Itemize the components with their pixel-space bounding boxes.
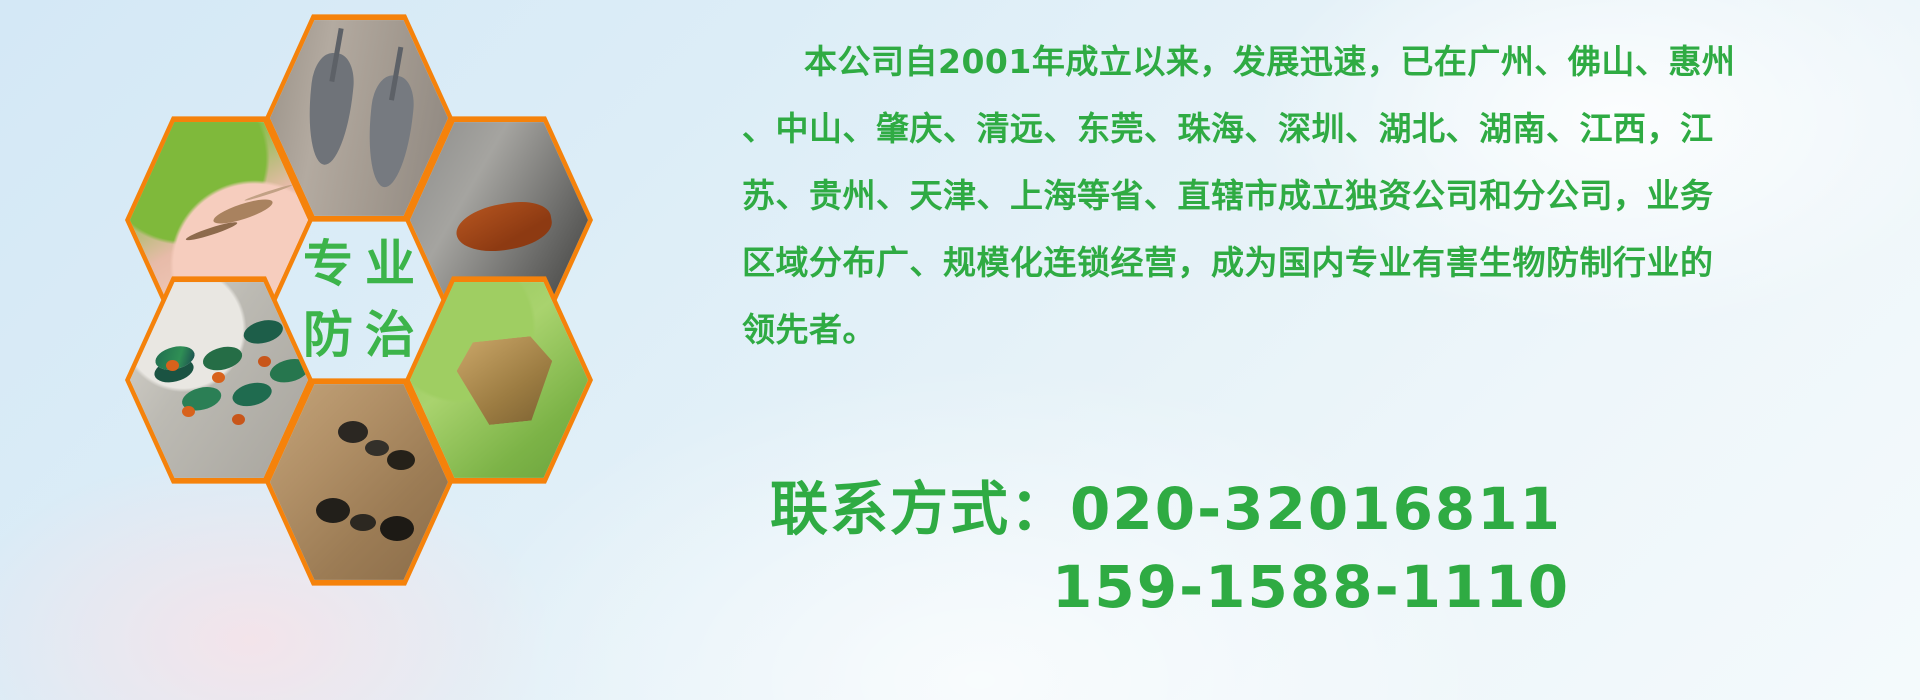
contact-phone-landline[interactable]: 联系方式：020-32016811	[770, 470, 1570, 548]
contact-block: 联系方式：020-32016811 159-1588-1110	[770, 470, 1570, 626]
description-line: 本公司自2001年成立以来，发展迅速，已在广州、佛山、惠州	[742, 34, 1882, 90]
description-line: 区域分布广、规模化连锁经营，成为国内专业有害生物防制行业的	[742, 235, 1882, 291]
description-line: 、中山、肇庆、清远、东莞、珠海、深圳、湖北、湖南、江西，江	[742, 101, 1882, 157]
honeycomb-gallery: 专业 防治	[85, 0, 705, 692]
promo-banner: 专业 防治 本公司自2001年成立以来，发展迅速，已在广州、佛山、惠州 、中山、…	[0, 0, 1920, 700]
contact-phone-mobile[interactable]: 159-1588-1110	[770, 548, 1570, 626]
hex-cell-slogan: 专业 防治	[259, 188, 459, 412]
slogan-line-2: 防治	[291, 300, 427, 371]
description-line: 苏、贵州、天津、上海等省、直辖市成立独资公司和分公司，业务	[742, 168, 1882, 224]
description-line: 领先者。	[742, 302, 1882, 358]
slogan-line-1: 专业	[291, 229, 427, 300]
company-description: 本公司自2001年成立以来，发展迅速，已在广州、佛山、惠州 、中山、肇庆、清远、…	[742, 34, 1882, 369]
